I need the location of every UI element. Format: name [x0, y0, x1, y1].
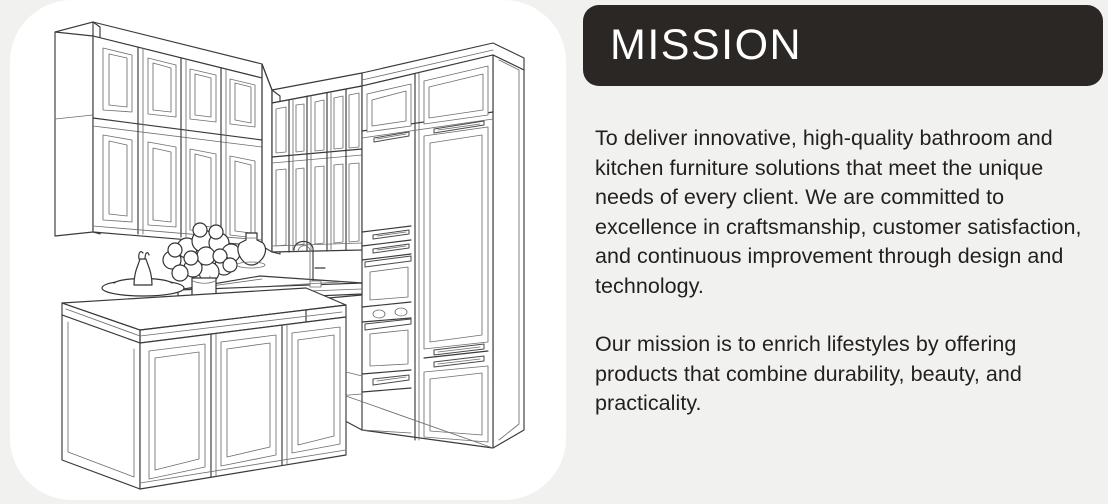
upper-cabinet-left-run	[93, 36, 262, 246]
mission-body-text: To deliver innovative, high-quality bath…	[595, 124, 1095, 419]
mission-paragraph-2: Our mission is to enrich lifestyles by o…	[595, 330, 1095, 419]
mission-header-banner: MISSION	[583, 5, 1103, 86]
pantry-tall-door	[424, 127, 488, 442]
kitchen-illustration-card	[10, 0, 566, 500]
mission-paragraph-1: To deliver innovative, high-quality bath…	[595, 124, 1095, 301]
decor-pitcher	[134, 252, 152, 285]
kitchen-island	[62, 288, 346, 489]
kitchen-line-drawing	[10, 0, 566, 500]
page-title: MISSION	[610, 24, 802, 67]
tall-cabinet-side-panel	[493, 55, 524, 448]
upper-cabinet-right-run	[272, 73, 362, 252]
mission-content-column: MISSION To deliver innovative, high-qual…	[583, 0, 1108, 504]
